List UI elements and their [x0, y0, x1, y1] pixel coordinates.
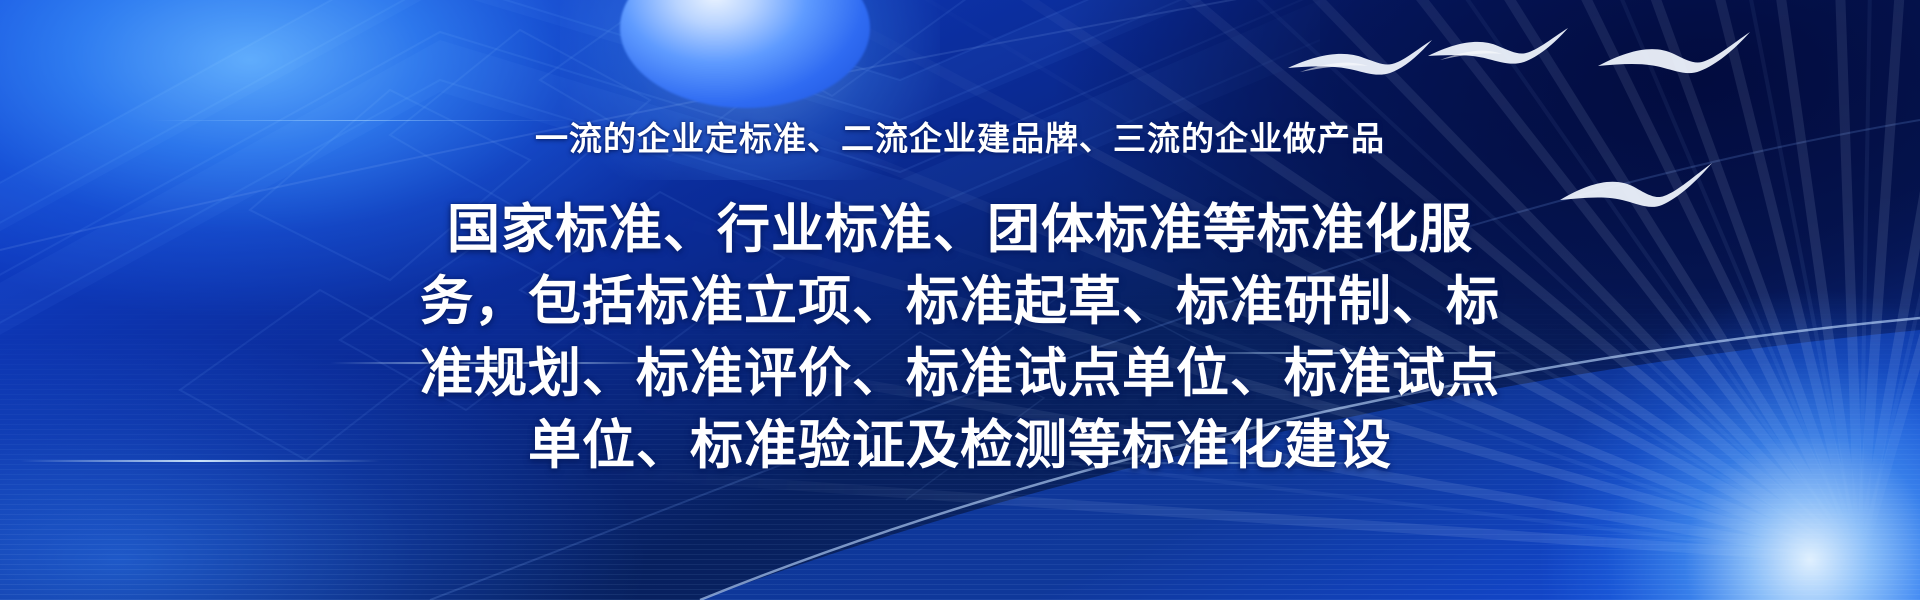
body-description: 国家标准、行业标准、团体标准等标准化服务，包括标准立项、标准起草、标准研制、标准…: [405, 194, 1515, 482]
banner: 一流的企业定标准、二流企业建品牌、三流的企业做产品 国家标准、行业标准、团体标准…: [0, 0, 1920, 600]
page-title: 一流的企业定标准、二流企业建品牌、三流的企业做产品: [535, 112, 1385, 160]
banner-content: 一流的企业定标准、二流企业建品牌、三流的企业做产品 国家标准、行业标准、团体标准…: [0, 0, 1920, 600]
